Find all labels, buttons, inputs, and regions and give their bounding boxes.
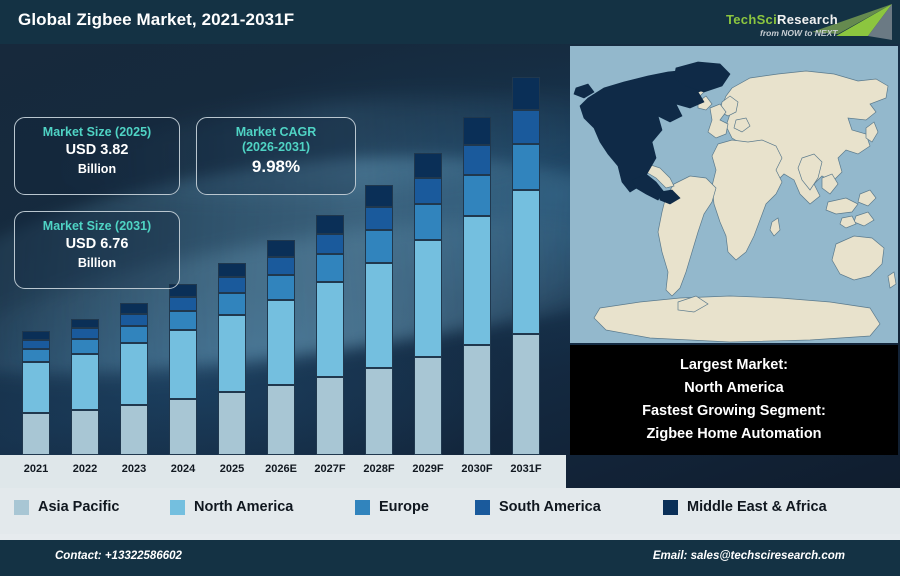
x-axis-label: 2023 bbox=[108, 463, 160, 475]
legend-label: Middle East & Africa bbox=[687, 499, 827, 515]
bar-segment bbox=[512, 190, 540, 334]
bar-segment bbox=[218, 263, 246, 278]
bar-segment bbox=[267, 257, 295, 275]
legend-label: North America bbox=[194, 499, 293, 515]
stat-title: Market Size (2031) bbox=[15, 219, 179, 234]
bar-segment bbox=[267, 240, 295, 257]
logo-brand-primary: TechSci bbox=[726, 12, 777, 27]
bar-2025 bbox=[218, 263, 246, 455]
bar-2029F bbox=[414, 153, 442, 455]
stat-subtitle: (2026-2031) bbox=[197, 140, 355, 155]
bar-segment bbox=[22, 362, 50, 413]
legend-label: South America bbox=[499, 499, 601, 515]
bar-segment bbox=[120, 326, 148, 343]
bar-2028F bbox=[365, 185, 393, 455]
bar-segment bbox=[218, 392, 246, 455]
bar-segment bbox=[414, 204, 442, 240]
bar-segment bbox=[463, 216, 491, 346]
header-bar: Global Zigbee Market, 2021-2031F TechSci… bbox=[0, 0, 900, 44]
legend-item[interactable]: Middle East & Africa bbox=[663, 499, 827, 515]
bar-segment bbox=[365, 230, 393, 262]
fastest-segment-value: Zigbee Home Automation bbox=[570, 423, 898, 446]
bar-segment bbox=[169, 399, 197, 455]
bar-segment bbox=[414, 240, 442, 357]
bar-segment bbox=[365, 263, 393, 368]
x-axis-label: 2025 bbox=[206, 463, 258, 475]
bar-segment bbox=[218, 315, 246, 392]
x-axis-label: 2024 bbox=[157, 463, 209, 475]
x-axis-label: 2028F bbox=[353, 463, 405, 475]
x-axis-label: 2026E bbox=[255, 463, 307, 475]
bar-segment bbox=[365, 185, 393, 207]
bar-segment bbox=[22, 413, 50, 455]
logo-brand-secondary: Research bbox=[777, 12, 838, 27]
stat-unit: Billion bbox=[15, 255, 179, 272]
legend-label: Europe bbox=[379, 499, 429, 515]
bar-2030F bbox=[463, 117, 491, 455]
x-axis-label: 2021 bbox=[10, 463, 62, 475]
legend-item[interactable]: South America bbox=[475, 499, 601, 515]
bar-segment bbox=[365, 207, 393, 230]
bar-segment bbox=[463, 145, 491, 175]
bar-2023 bbox=[120, 303, 148, 455]
bar-segment bbox=[120, 405, 148, 455]
stat-value: 9.98% bbox=[197, 155, 355, 179]
legend-item[interactable]: Europe bbox=[355, 499, 429, 515]
bar-segment bbox=[414, 357, 442, 455]
logo-tagline: from NOW to NEXT bbox=[760, 28, 837, 38]
bar-segment bbox=[169, 297, 197, 311]
legend-item[interactable]: North America bbox=[170, 499, 293, 515]
stat-box-market-size-2025: Market Size (2025) USD 3.82 Billion bbox=[14, 117, 180, 195]
legend-item[interactable]: Asia Pacific bbox=[14, 499, 119, 515]
bar-segment bbox=[267, 385, 295, 455]
x-axis-label: 2030F bbox=[451, 463, 503, 475]
legend-swatch-icon bbox=[14, 500, 29, 515]
legend-swatch-icon bbox=[170, 500, 185, 515]
bar-segment bbox=[316, 215, 344, 234]
bar-segment bbox=[316, 377, 344, 455]
bar-segment bbox=[463, 117, 491, 146]
world-map-svg bbox=[570, 46, 898, 343]
largest-market-value: North America bbox=[570, 377, 898, 400]
chart-legend: Asia PacificNorth AmericaEuropeSouth Ame… bbox=[0, 488, 900, 534]
bar-2024 bbox=[169, 284, 197, 455]
bar-segment bbox=[71, 319, 99, 328]
legend-swatch-icon bbox=[663, 500, 678, 515]
bar-segment bbox=[169, 330, 197, 399]
legend-swatch-icon bbox=[355, 500, 370, 515]
bar-segment bbox=[316, 282, 344, 377]
bar-segment bbox=[365, 368, 393, 456]
largest-market-label: Largest Market: bbox=[570, 354, 898, 377]
bar-segment bbox=[22, 340, 50, 349]
stat-title: Market Size (2025) bbox=[15, 125, 179, 140]
bar-2031F bbox=[512, 77, 540, 455]
bar-segment bbox=[316, 234, 344, 254]
bar-segment bbox=[120, 343, 148, 405]
stat-box-market-cagr: Market CAGR (2026-2031) 9.98% bbox=[196, 117, 356, 195]
bar-segment bbox=[463, 345, 491, 455]
bar-segment bbox=[316, 254, 344, 282]
legend-label: Asia Pacific bbox=[38, 499, 119, 515]
bar-segment bbox=[512, 144, 540, 191]
bar-segment bbox=[71, 339, 99, 354]
bar-segment bbox=[218, 277, 246, 293]
footer-contact: Contact: +13322586602 bbox=[55, 550, 182, 562]
stat-box-market-size-2031: Market Size (2031) USD 6.76 Billion bbox=[14, 211, 180, 289]
footer-email: Email: sales@techsciresearch.com bbox=[653, 550, 845, 562]
legend-swatch-icon bbox=[475, 500, 490, 515]
bar-2026E bbox=[267, 240, 295, 455]
bar-segment bbox=[414, 153, 442, 178]
bar-2022 bbox=[71, 319, 99, 455]
bar-segment bbox=[22, 331, 50, 339]
bar-segment bbox=[512, 334, 540, 455]
bar-2021 bbox=[22, 331, 50, 455]
x-axis-label: 2031F bbox=[500, 463, 552, 475]
market-highlights-panel: Largest Market: North America Fastest Gr… bbox=[570, 345, 898, 455]
techsci-research-logo: TechSciResearch from NOW to NEXT bbox=[716, 2, 892, 44]
x-axis-label: 2022 bbox=[59, 463, 111, 475]
bar-segment bbox=[463, 175, 491, 216]
bar-2027F bbox=[316, 215, 344, 455]
bar-segment bbox=[120, 303, 148, 314]
logo-wordmark: TechSciResearch bbox=[726, 12, 838, 27]
bar-segment bbox=[512, 110, 540, 144]
bar-segment bbox=[71, 354, 99, 410]
stat-value: USD 3.82 bbox=[15, 140, 179, 161]
bar-segment bbox=[169, 311, 197, 330]
x-axis-label: 2027F bbox=[304, 463, 356, 475]
stat-title: Market CAGR bbox=[197, 125, 355, 140]
bar-segment bbox=[120, 314, 148, 326]
stat-value: USD 6.76 bbox=[15, 234, 179, 255]
x-axis-label: 2029F bbox=[402, 463, 454, 475]
page-title: Global Zigbee Market, 2021-2031F bbox=[18, 10, 294, 30]
bar-segment bbox=[267, 300, 295, 385]
x-axis: 202120222023202420252026E2027F2028F2029F… bbox=[0, 455, 566, 488]
footer-bar: Contact: +13322586602 Email: sales@techs… bbox=[0, 540, 900, 576]
infographic-page: Global Zigbee Market, 2021-2031F TechSci… bbox=[0, 0, 900, 576]
world-map bbox=[570, 46, 898, 343]
bar-segment bbox=[512, 77, 540, 110]
bar-segment bbox=[267, 275, 295, 300]
chart-canvas: 202120222023202420252026E2027F2028F2029F… bbox=[0, 44, 900, 488]
stat-unit: Billion bbox=[15, 161, 179, 178]
fastest-segment-label: Fastest Growing Segment: bbox=[570, 400, 898, 423]
bar-segment bbox=[71, 328, 99, 339]
bar-segment bbox=[71, 410, 99, 456]
bar-segment bbox=[22, 349, 50, 362]
bar-segment bbox=[218, 293, 246, 315]
bar-segment bbox=[414, 178, 442, 204]
